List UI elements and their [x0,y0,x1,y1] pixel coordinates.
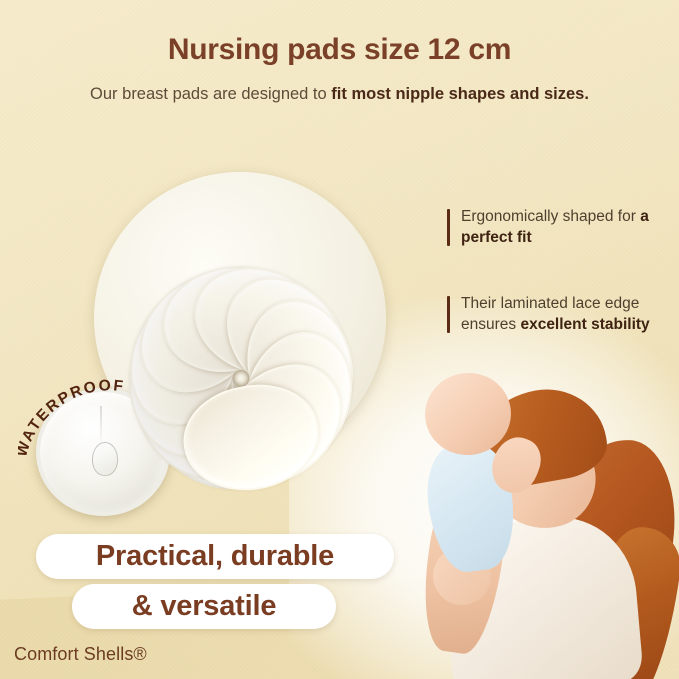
callout-text: Ergonomically shaped for a perfect fit [461,207,666,248]
subtitle-regular-text: Our breast pads are designed to [90,85,331,103]
page-title: Nursing pads size 12 cm [0,33,679,67]
brand-name: Comfort Shells® [14,644,147,665]
callout-regular-text: Ergonomically shaped for [461,208,640,225]
callout-accent-bar [447,296,450,333]
pill-versatile: & versatile [72,584,336,629]
mother-and-baby-photo [379,361,679,679]
page-subtitle: Our breast pads are designed to fit most… [0,83,679,106]
callout-text: Their laminated lace edge ensures excell… [461,294,666,335]
pill-practical-durable: Practical, durable [36,534,394,579]
waterproof-label: WATERPROOF [18,377,126,459]
callout-lace-edge-stability: Their laminated lace edge ensures excell… [447,294,666,335]
callout-accent-bar [447,209,450,246]
subtitle-bold-text: fit most nipple shapes and sizes. [331,85,589,103]
callout-bold-text: excellent stability [520,316,649,333]
header: Nursing pads size 12 cm Our breast pads … [0,0,679,106]
callout-ergonomic-fit: Ergonomically shaped for a perfect fit [447,207,666,248]
